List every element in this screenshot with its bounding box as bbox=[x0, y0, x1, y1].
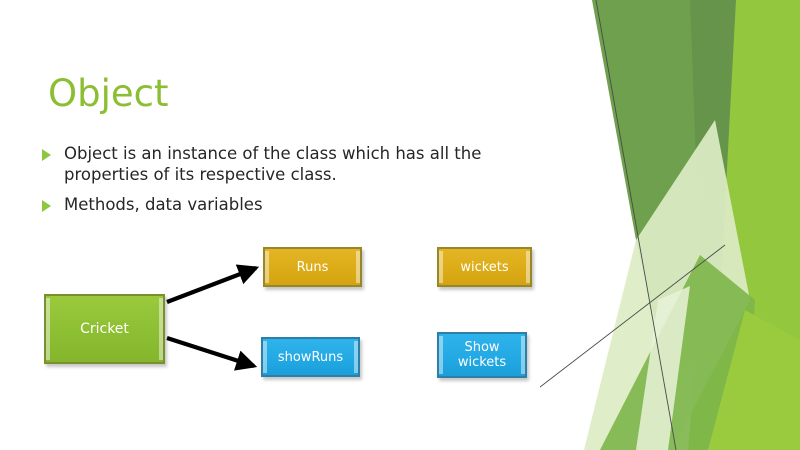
triangle-bullet-icon bbox=[42, 200, 51, 212]
facet-decoration-graphic bbox=[540, 0, 800, 450]
diagram-box-label: wickets bbox=[460, 260, 508, 275]
facet-hairline-steep bbox=[596, 0, 676, 450]
diagram-box-cricket[interactable]: Cricket bbox=[44, 294, 165, 364]
diagram-box-showwickets[interactable]: Show wickets bbox=[437, 332, 527, 378]
list-item: Object is an instance of the class which… bbox=[42, 143, 547, 185]
facet-hairline-shallow bbox=[540, 245, 725, 450]
diagram-box-wickets[interactable]: wickets bbox=[437, 247, 532, 287]
facet-shape-mid-lower bbox=[600, 255, 755, 450]
diagram-box-showruns[interactable]: showRuns bbox=[261, 337, 360, 377]
list-item: Methods, data variables bbox=[42, 194, 547, 215]
facet-shape-pale-sheet bbox=[584, 120, 750, 450]
facet-shape-pale-sliver bbox=[636, 286, 690, 450]
connector-cricket-to-runs bbox=[167, 268, 256, 302]
diagram-box-label: showRuns bbox=[278, 350, 343, 365]
diagram-connectors bbox=[0, 0, 800, 450]
diagram-box-label: Show wickets bbox=[439, 340, 525, 370]
connector-cricket-to-showruns bbox=[167, 338, 254, 366]
facet-shape-dark-wedge bbox=[592, 0, 718, 392]
list-item-label: Methods, data variables bbox=[64, 194, 547, 215]
facet-shape-bright-lower bbox=[708, 310, 800, 450]
diagram-box-label: Cricket bbox=[80, 322, 129, 337]
diagram-box-runs[interactable]: Runs bbox=[263, 247, 362, 287]
list-item-label: Object is an instance of the class which… bbox=[64, 143, 547, 185]
facet-shape-dark-overlap bbox=[690, 0, 736, 300]
slide-title: Object bbox=[48, 72, 169, 115]
slide-body-list: Object is an instance of the class which… bbox=[42, 143, 547, 224]
triangle-bullet-icon bbox=[42, 149, 51, 161]
slide: Object Object is an instance of the clas… bbox=[0, 0, 800, 450]
facet-shape-bright-right bbox=[688, 0, 800, 450]
diagram-box-label: Runs bbox=[297, 260, 329, 275]
